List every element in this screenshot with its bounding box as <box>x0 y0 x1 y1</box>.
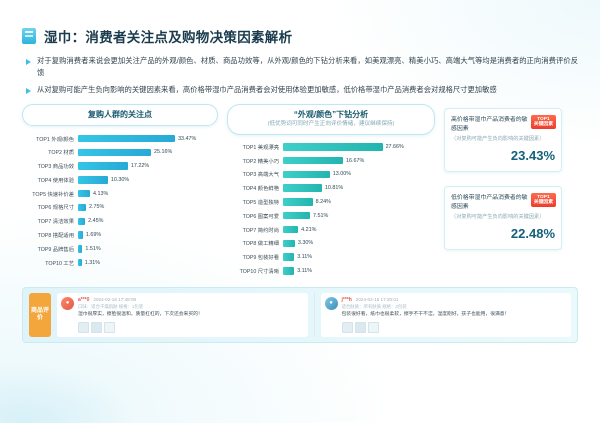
user-avatar-icon: ● <box>61 297 74 310</box>
comment-thumbnails <box>342 322 568 333</box>
badge-line1: TOP1 <box>537 117 549 122</box>
list-item: 对于复购消费者来说会更加关注产品的外观/颜色、材质、商品功效等，从外观/颜色的下… <box>26 55 578 79</box>
chart-bar-row: TOP4 使用体验10.30% <box>22 175 218 185</box>
chart-bar-row: TOP5 快速补价差4.13% <box>22 189 218 199</box>
chart-bar-label: TOP1 美观漂亮 <box>227 143 283 151</box>
chart-bar-row: TOP10 尺寸清晰3.11% <box>227 266 435 276</box>
chart-bar <box>283 184 322 191</box>
chart-bar <box>78 190 90 197</box>
chart-bar-value: 16.67% <box>346 158 364 164</box>
chart-bar-value: 33.47% <box>178 136 196 142</box>
chart-bar-value: 1.31% <box>85 260 100 266</box>
divider <box>314 293 315 337</box>
chart-bar <box>78 149 151 156</box>
chart-bar-label: TOP3 高端大气 <box>227 170 283 178</box>
bullet-text: 对于复购消费者来说会更加关注产品的外观/颜色、材质、商品功效等，从外观/颜色的下… <box>37 55 578 79</box>
chart-bar-row: TOP8 做工精细3.30% <box>227 238 435 248</box>
chart-bar-row: TOP1 美观漂亮27.66% <box>227 142 435 152</box>
chart-bar-label: TOP4 使用体验 <box>22 176 78 184</box>
mid-chart-title-text: “外观/颜色”下钻分析 <box>294 110 368 119</box>
chart-bar-row: TOP7 简约时尚4.21% <box>227 224 435 234</box>
chart-bar-row: TOP5 造型独特8.24% <box>227 197 435 207</box>
thumbnail-image <box>368 322 379 333</box>
chart-bar <box>78 162 128 169</box>
stat-card-subtext: （对复购可能产生负向影响的关键因素） <box>451 136 555 144</box>
comment-user: j***h <box>342 297 352 303</box>
left-chart-title: 复购人群的关注点 <box>22 104 218 126</box>
chart-bar-label: TOP7 清洁效果 <box>22 217 78 225</box>
chart-bar <box>283 240 295 247</box>
chart-bar <box>78 218 85 225</box>
chart-bar-row: TOP10 工艺1.31% <box>22 258 218 268</box>
chart-bar-label: TOP9 包装好看 <box>227 253 283 261</box>
chart-bar-label: TOP1 外观/颜色 <box>22 135 78 143</box>
chart-bar <box>283 212 310 219</box>
triangle-bullet-icon <box>26 88 31 94</box>
bullet-list: 对于复购消费者来说会更加关注产品的外观/颜色、材质、商品功效等，从外观/颜色的下… <box>26 55 578 96</box>
chart-bar-label: TOP10 工艺 <box>22 259 78 267</box>
stat-card: TOP1 关键因素 高价格带湿巾产品消费者的敏感因素 （对复购可能产生负向影响的… <box>444 108 562 172</box>
chart-bar-row: TOP6 规格尺寸2.75% <box>22 202 218 212</box>
bullet-text: 从对复购可能产生负向影响的关键因素来看，高价格带湿巾产品消费者会对使用体验更加敏… <box>37 84 497 96</box>
chart-left-bars: TOP1 外观/颜色33.47%TOP2 材质25.16%TOP3 商品功效17… <box>22 133 218 267</box>
stat-card-value: 22.48% <box>451 226 555 241</box>
thumbnail-image <box>355 322 366 333</box>
chart-bar-label: TOP9 品牌售后 <box>22 245 78 253</box>
thumbnail-image <box>104 322 115 333</box>
comment-text: 湿巾很厚实，擦脸很温和，质量杠杠的，下次还会来买的！ <box>78 312 304 319</box>
chart-bar-value: 4.21% <box>301 227 316 233</box>
chart-bar-value: 8.24% <box>316 199 331 205</box>
chart-bar-value: 1.69% <box>86 232 101 238</box>
document-icon <box>22 28 36 44</box>
chart-bar-row: TOP2 精美小巧16.67% <box>227 156 435 166</box>
stat-card-value: 23.43% <box>451 148 555 163</box>
chart-bar-label: TOP2 精美小巧 <box>227 157 283 165</box>
chart-bar <box>78 135 175 142</box>
chart-bar-value: 1.51% <box>85 246 100 252</box>
badge-line2: 关键因素 <box>534 122 553 127</box>
content-columns: 复购人群的关注点 TOP1 外观/颜色33.47%TOP2 材质25.16%TO… <box>22 104 578 279</box>
mid-chart-panel: “外观/颜色”下钻分析 (低优势词可同时产生正向评价情绪，建议继续保持) TOP… <box>227 104 435 279</box>
chart-bar <box>78 259 82 266</box>
list-item: ● j***h 2024-02-15 17:20:01 适合肤质：所有肤质 规格… <box>321 293 572 337</box>
slide-header: 湿巾：消费者关注点及购物决策因素解析 <box>22 26 578 46</box>
page-title: 湿巾：消费者关注点及购物决策因素解析 <box>44 26 292 46</box>
chart-bar-row: TOP3 商品功效17.22% <box>22 161 218 171</box>
right-cards: TOP1 关键因素 高价格带湿巾产品消费者的敏感因素 （对复购可能产生负向影响的… <box>444 104 562 279</box>
chart-bar-label: TOP2 材质 <box>22 148 78 156</box>
slide: 湿巾：消费者关注点及购物决策因素解析 对于复购消费者来说会更加关注产品的外观/颜… <box>0 0 600 423</box>
chart-bar-label: TOP6 规格尺寸 <box>22 203 78 211</box>
comment-meta: 适合肤质：所有肤质 规格：3包装 <box>342 304 568 310</box>
comments-panel-title: 商品评价 <box>29 293 51 337</box>
left-chart-title-text: 复购人群的关注点 <box>88 110 152 119</box>
chart-bar-row: TOP2 材质25.16% <box>22 147 218 157</box>
chart-bar-label: TOP10 尺寸清晰 <box>227 267 283 275</box>
chart-mid-bars: TOP1 美观漂亮27.66%TOP2 精美小巧16.67%TOP3 高端大气1… <box>227 142 435 276</box>
chart-bar-value: 2.45% <box>88 218 103 224</box>
comment-meta: 口味：适合干燥肌肤 规格：1包装 <box>78 304 304 310</box>
comment-date: 2024-02-15 17:20:01 <box>356 297 399 302</box>
chart-bar-value: 4.13% <box>93 191 108 197</box>
badge-line1: TOP1 <box>537 195 549 200</box>
chart-bar-row: TOP8 搭配适用1.69% <box>22 230 218 240</box>
chart-bar <box>78 231 83 238</box>
chart-bar-label: TOP5 快速补价差 <box>22 190 78 198</box>
chart-bar-label: TOP4 颜色鲜艳 <box>227 184 283 192</box>
chart-bar-row: TOP4 颜色鲜艳10.81% <box>227 183 435 193</box>
chart-bar <box>283 267 294 274</box>
chart-bar-label: TOP5 造型独特 <box>227 198 283 206</box>
chart-bar-label: TOP8 做工精细 <box>227 239 283 247</box>
chart-bar-row: TOP9 品牌售后1.51% <box>22 244 218 254</box>
triangle-bullet-icon <box>26 59 31 65</box>
chart-bar-label: TOP7 简约时尚 <box>227 226 283 234</box>
user-avatar-icon: ● <box>325 297 338 310</box>
chart-bar <box>78 204 86 211</box>
chart-bar <box>283 157 343 164</box>
comment-thumbnails <box>78 322 304 333</box>
chart-bar-row: TOP1 外观/颜色33.47% <box>22 133 218 143</box>
status-badge: TOP1 关键因素 <box>531 193 556 207</box>
chart-bar-row: TOP6 图案可爱7.51% <box>227 211 435 221</box>
list-item: ● a***0 2024-02-16 17:48:08 口味：适合干燥肌肤 规格… <box>57 293 308 337</box>
badge-line2: 关键因素 <box>534 200 553 205</box>
chart-bar-value: 3.11% <box>297 254 312 260</box>
chart-bar <box>283 226 298 233</box>
chart-bar-row: TOP7 清洁效果2.45% <box>22 216 218 226</box>
chart-bar-row: TOP3 高端大气13.00% <box>227 169 435 179</box>
comment-date: 2024-02-16 17:48:08 <box>93 297 136 302</box>
chart-bar-value: 17.22% <box>131 163 149 169</box>
chart-bar-value: 2.75% <box>89 204 104 210</box>
chart-bar-value: 3.30% <box>298 240 313 246</box>
thumbnail-image <box>78 322 89 333</box>
stat-card: TOP1 关键因素 低价格带湿巾产品消费者的敏感因素 （对复购可能产生负向影响的… <box>444 186 562 250</box>
chart-bar-value: 25.16% <box>154 149 172 155</box>
comment-text: 包装很好看，纸巾也很柔软，擦手不干不涩，湿度刚好，孩子也能用，很满意！ <box>342 312 568 319</box>
chart-bar-label: TOP6 图案可爱 <box>227 212 283 220</box>
chart-bar-label: TOP3 商品功效 <box>22 162 78 170</box>
status-badge: TOP1 关键因素 <box>531 115 556 129</box>
list-item: 从对复购可能产生负向影响的关键因素来看，高价格带湿巾产品消费者会对使用体验更加敏… <box>26 84 578 96</box>
chart-bar <box>283 253 294 260</box>
mid-chart-subtitle: (低优势词可同时产生正向评价情绪，建议继续保持) <box>232 121 430 128</box>
comments-panel: 商品评价 ● a***0 2024-02-16 17:48:08 口味：适合干燥… <box>22 287 578 343</box>
chart-bar-label: TOP8 搭配适用 <box>22 231 78 239</box>
chart-bar-value: 13.00% <box>333 171 351 177</box>
thumbnail-image <box>91 322 102 333</box>
chart-bar <box>283 143 383 150</box>
chart-bar-value: 27.66% <box>386 144 404 150</box>
stat-card-subtext: （对复购可能产生负向影响的关键因素） <box>451 214 555 222</box>
chart-bar <box>283 171 330 178</box>
chart-bar-value: 7.51% <box>313 213 328 219</box>
thumbnail-image <box>342 322 353 333</box>
chart-bar-value: 10.81% <box>325 185 343 191</box>
chart-bar-value: 3.11% <box>297 268 312 274</box>
chart-bar-value: 10.30% <box>111 177 129 183</box>
chart-bar <box>283 198 313 205</box>
comment-user: a***0 <box>78 297 89 303</box>
left-chart-panel: 复购人群的关注点 TOP1 外观/颜色33.47%TOP2 材质25.16%TO… <box>22 104 218 279</box>
chart-bar <box>78 176 108 183</box>
mid-chart-title: “外观/颜色”下钻分析 (低优势词可同时产生正向评价情绪，建议继续保持) <box>227 104 435 135</box>
chart-bar-row: TOP9 包装好看3.11% <box>227 252 435 262</box>
chart-bar <box>78 245 82 252</box>
